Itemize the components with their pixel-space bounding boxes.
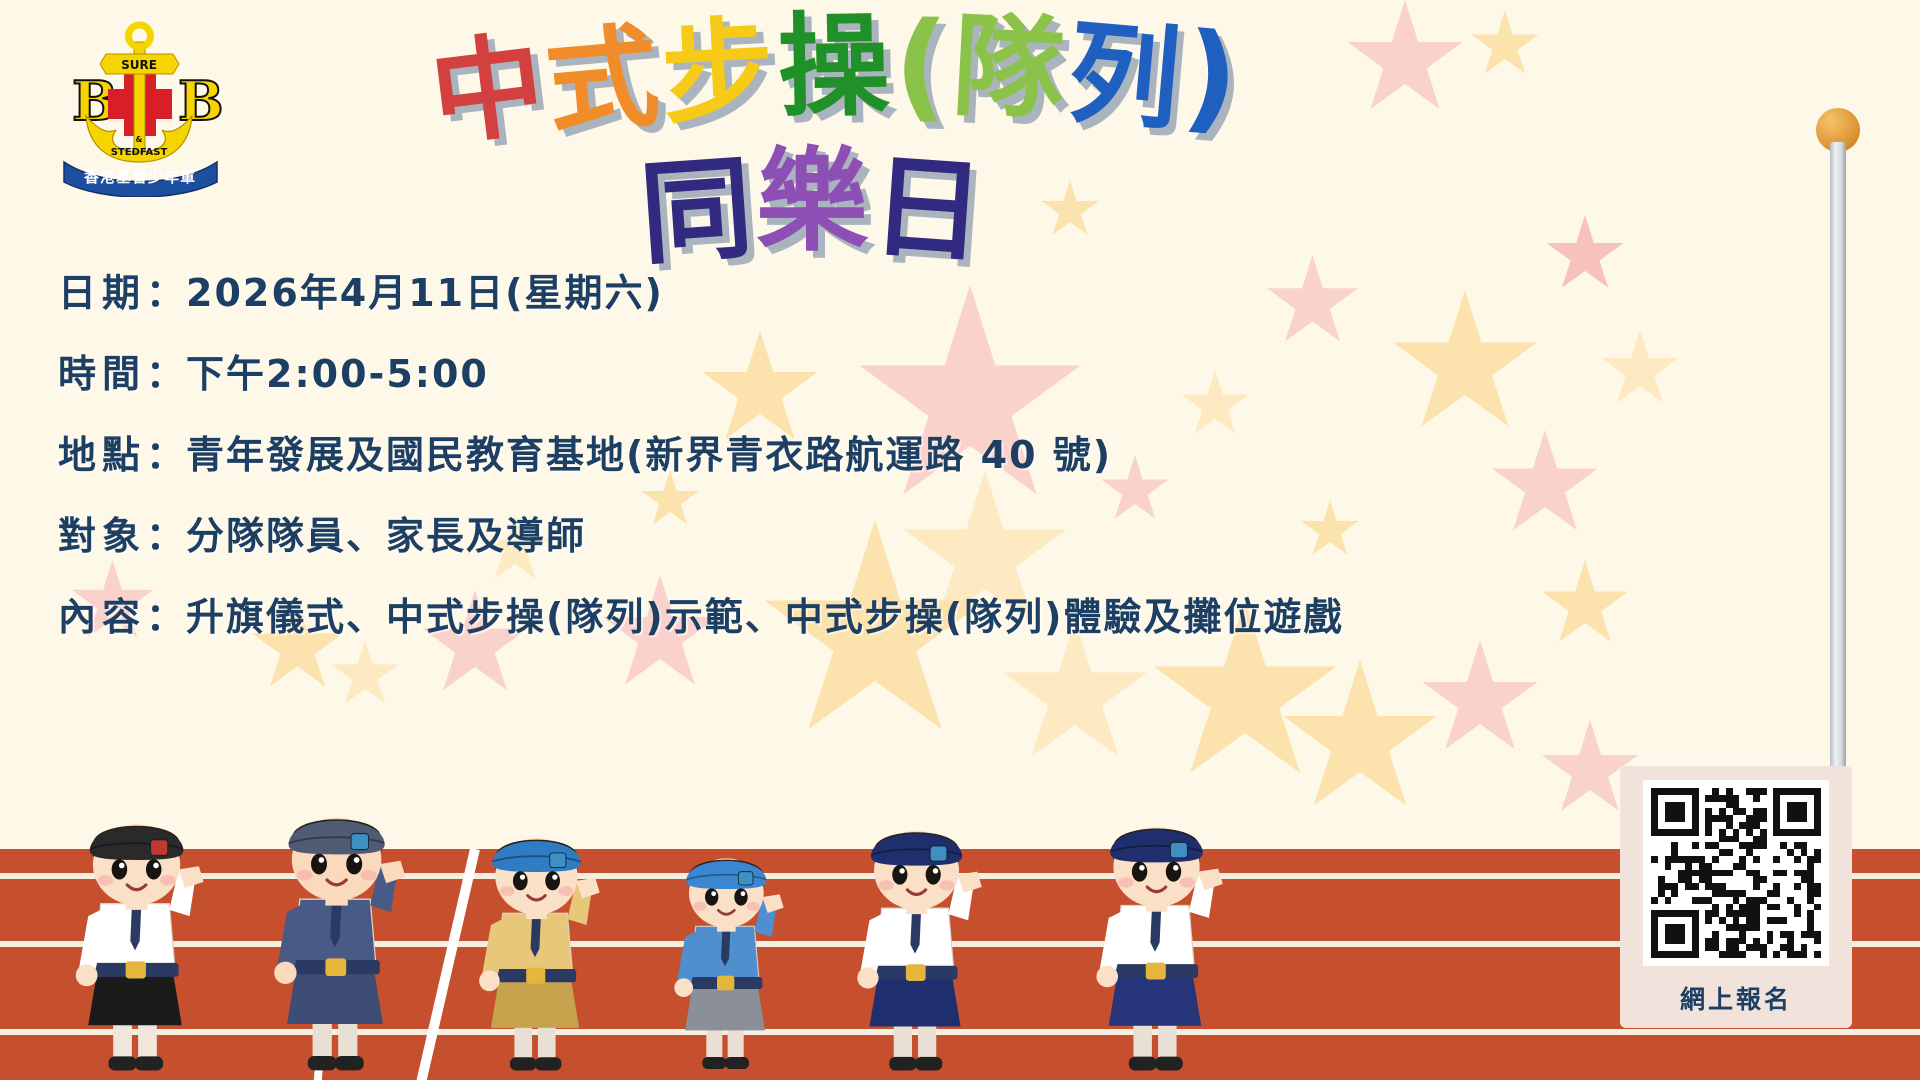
detail-value: 分隊隊員、家長及導師 [186,514,586,558]
detail-separator: ： [146,433,186,477]
logo-ampersand: & [136,135,143,144]
character-row [0,772,1320,1072]
character-junior-boy-blue-cap [445,822,625,1072]
title-char: 同 [637,152,757,272]
flagpole [1808,100,1868,820]
decorative-star [1545,215,1625,295]
detail-row: 日期：2026年4月11日(星期六) [58,262,1358,317]
detail-separator: ： [146,514,186,558]
character-officer-male-grey-cap [235,800,435,1072]
detail-row: 內容：升旗儀式、中式步操(隊列)示範、中式步操(隊列)體驗及攤位遊戲 [58,586,1358,641]
detail-label: 對象 [58,514,146,558]
bb-logo-svg: B B SURE & STEDFAST 香港基督少年軍 [58,12,223,197]
character-junior-girl-blue-cap [645,842,805,1072]
logo-motto-bottom: STEDFAST [111,147,168,158]
detail-separator: ： [146,352,186,396]
qr-registration-panel[interactable]: 網上報名 [1620,766,1852,1028]
detail-value: 2026年4月11日(星期六) [186,271,664,315]
logo-org-name: 香港基督少年軍 [84,168,196,186]
detail-value: 下午2:00-5:00 [186,352,489,396]
character-company-girl-navy-cap [820,814,1010,1072]
title-char: 式 [542,20,663,141]
decorative-star [1490,430,1600,540]
logo-motto-top: SURE [121,58,157,72]
title-line-2: 同樂日 [640,150,988,262]
detail-label: 日期 [58,271,146,315]
decorative-star [1600,330,1680,410]
detail-label: 時間 [58,352,146,396]
poster-title: 中式步操(隊列) 同樂日 [430,10,1480,280]
title-char: 日 [868,150,988,270]
title-line-1: 中式步操(隊列) [430,18,1242,136]
character-company-female-navy-cap [1060,810,1250,1072]
decorative-star [1420,640,1540,760]
title-char: 樂 [756,146,868,258]
detail-row: 地點：青年發展及國民教育基地(新界青衣路航運路 40 號) [58,424,1358,479]
title-char: 中 [425,28,550,153]
flagpole-mast [1830,142,1846,802]
poster-root: B B SURE & STEDFAST 香港基督少年軍 中式步操(隊列) 同樂日… [0,0,1920,1080]
bb-logo: B B SURE & STEDFAST 香港基督少年軍 [58,12,223,197]
detail-label: 地點 [58,433,146,477]
detail-row: 對象：分隊隊員、家長及導師 [58,505,1358,560]
detail-value: 青年發展及國民教育基地(新界青衣路航運路 40 號) [186,433,1112,477]
qr-label: 網上報名 [1680,980,1792,1016]
title-char: ( [893,6,949,125]
detail-value: 升旗儀式、中式步操(隊列)示範、中式步操(隊列)體驗及攤位遊戲 [186,595,1343,639]
detail-row: 時間：下午2:00-5:00 [58,343,1358,398]
title-char: 隊 [950,10,1068,128]
decorative-star [1470,10,1540,80]
event-details: 日期：2026年4月11日(星期六)時間：下午2:00-5:00地點：青年發展及… [58,262,1358,667]
title-char: 操 [777,10,891,124]
detail-separator: ： [146,595,186,639]
title-char: 步 [659,14,777,132]
decorative-star [1390,290,1540,440]
character-officer-female-black-cap [40,807,230,1072]
title-char: ) [1179,16,1243,138]
qr-code[interactable] [1643,780,1829,966]
decorative-star [1540,560,1630,650]
detail-label: 內容 [58,595,146,639]
detail-separator: ： [146,271,186,315]
title-char: 列 [1063,16,1184,137]
